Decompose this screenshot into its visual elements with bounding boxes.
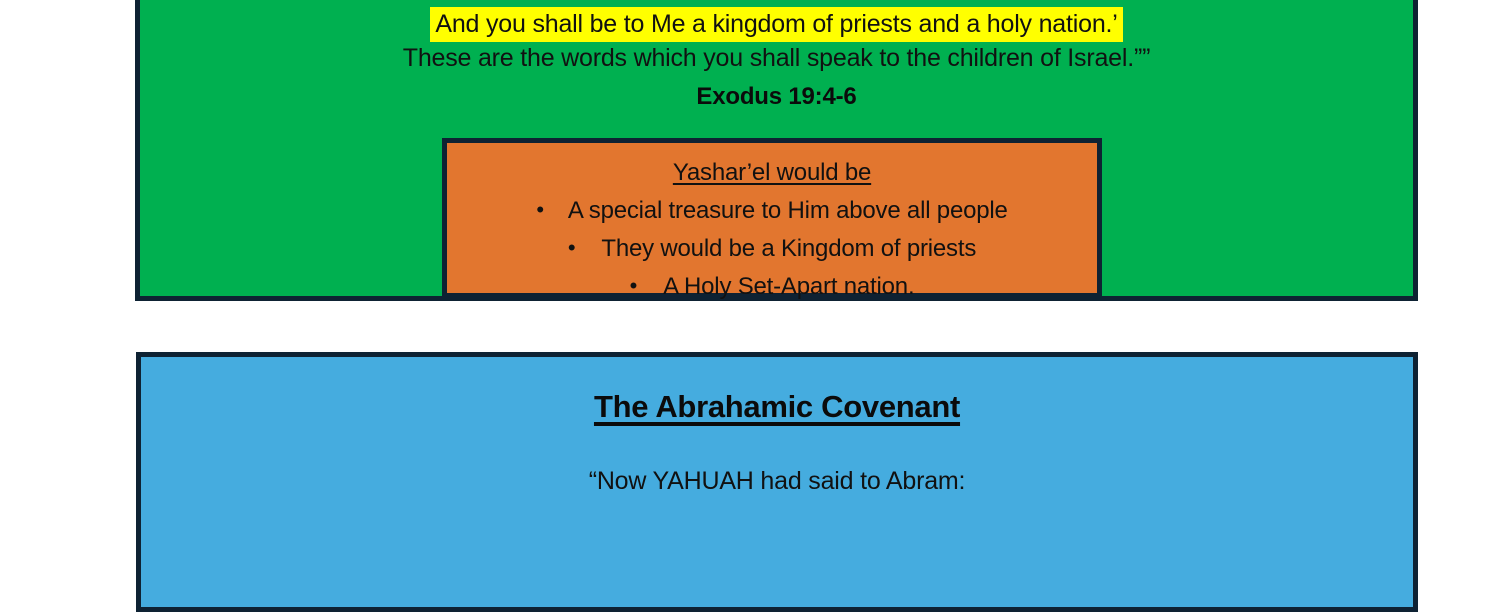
bullet-icon: •	[536, 191, 544, 228]
page-title: The Abrahamic Covenant	[141, 357, 1413, 429]
green-panel-content: And you shall be to Me a kingdom of prie…	[140, 5, 1413, 117]
list-item-label: They would be a Kingdom of priests	[601, 235, 976, 262]
list-item: •A special treasure to Him above all peo…	[447, 191, 1097, 229]
list-item-label: A Holy Set-Apart nation.	[663, 273, 914, 300]
verse-line-2: These are the words which you shall spea…	[140, 39, 1413, 77]
list-item: •A Holy Set-Apart nation.	[447, 267, 1097, 305]
bullet-icon: •	[630, 267, 638, 304]
scripture-reference: Exodus 19:4-6	[140, 77, 1413, 117]
slide-canvas: And you shall be to Me a kingdom of prie…	[0, 0, 1500, 500]
list-item: •They would be a Kingdom of priests	[447, 229, 1097, 267]
green-scripture-panel: And you shall be to Me a kingdom of prie…	[135, 0, 1418, 301]
orange-box-heading: Yashar’el would be	[447, 143, 1097, 191]
blue-covenant-panel: The Abrahamic Covenant “Now YAHUAH had s…	[136, 352, 1418, 612]
highlighted-verse-row: And you shall be to Me a kingdom of prie…	[140, 5, 1413, 39]
bullet-icon: •	[568, 229, 576, 266]
covenant-body-line-1: “Now YAHUAH had said to Abram:	[141, 429, 1413, 500]
highlighted-verse-text: And you shall be to Me a kingdom of prie…	[430, 7, 1122, 42]
orange-summary-box: Yashar’el would be •A special treasure t…	[442, 138, 1102, 298]
list-item-label: A special treasure to Him above all peop…	[568, 197, 1008, 224]
